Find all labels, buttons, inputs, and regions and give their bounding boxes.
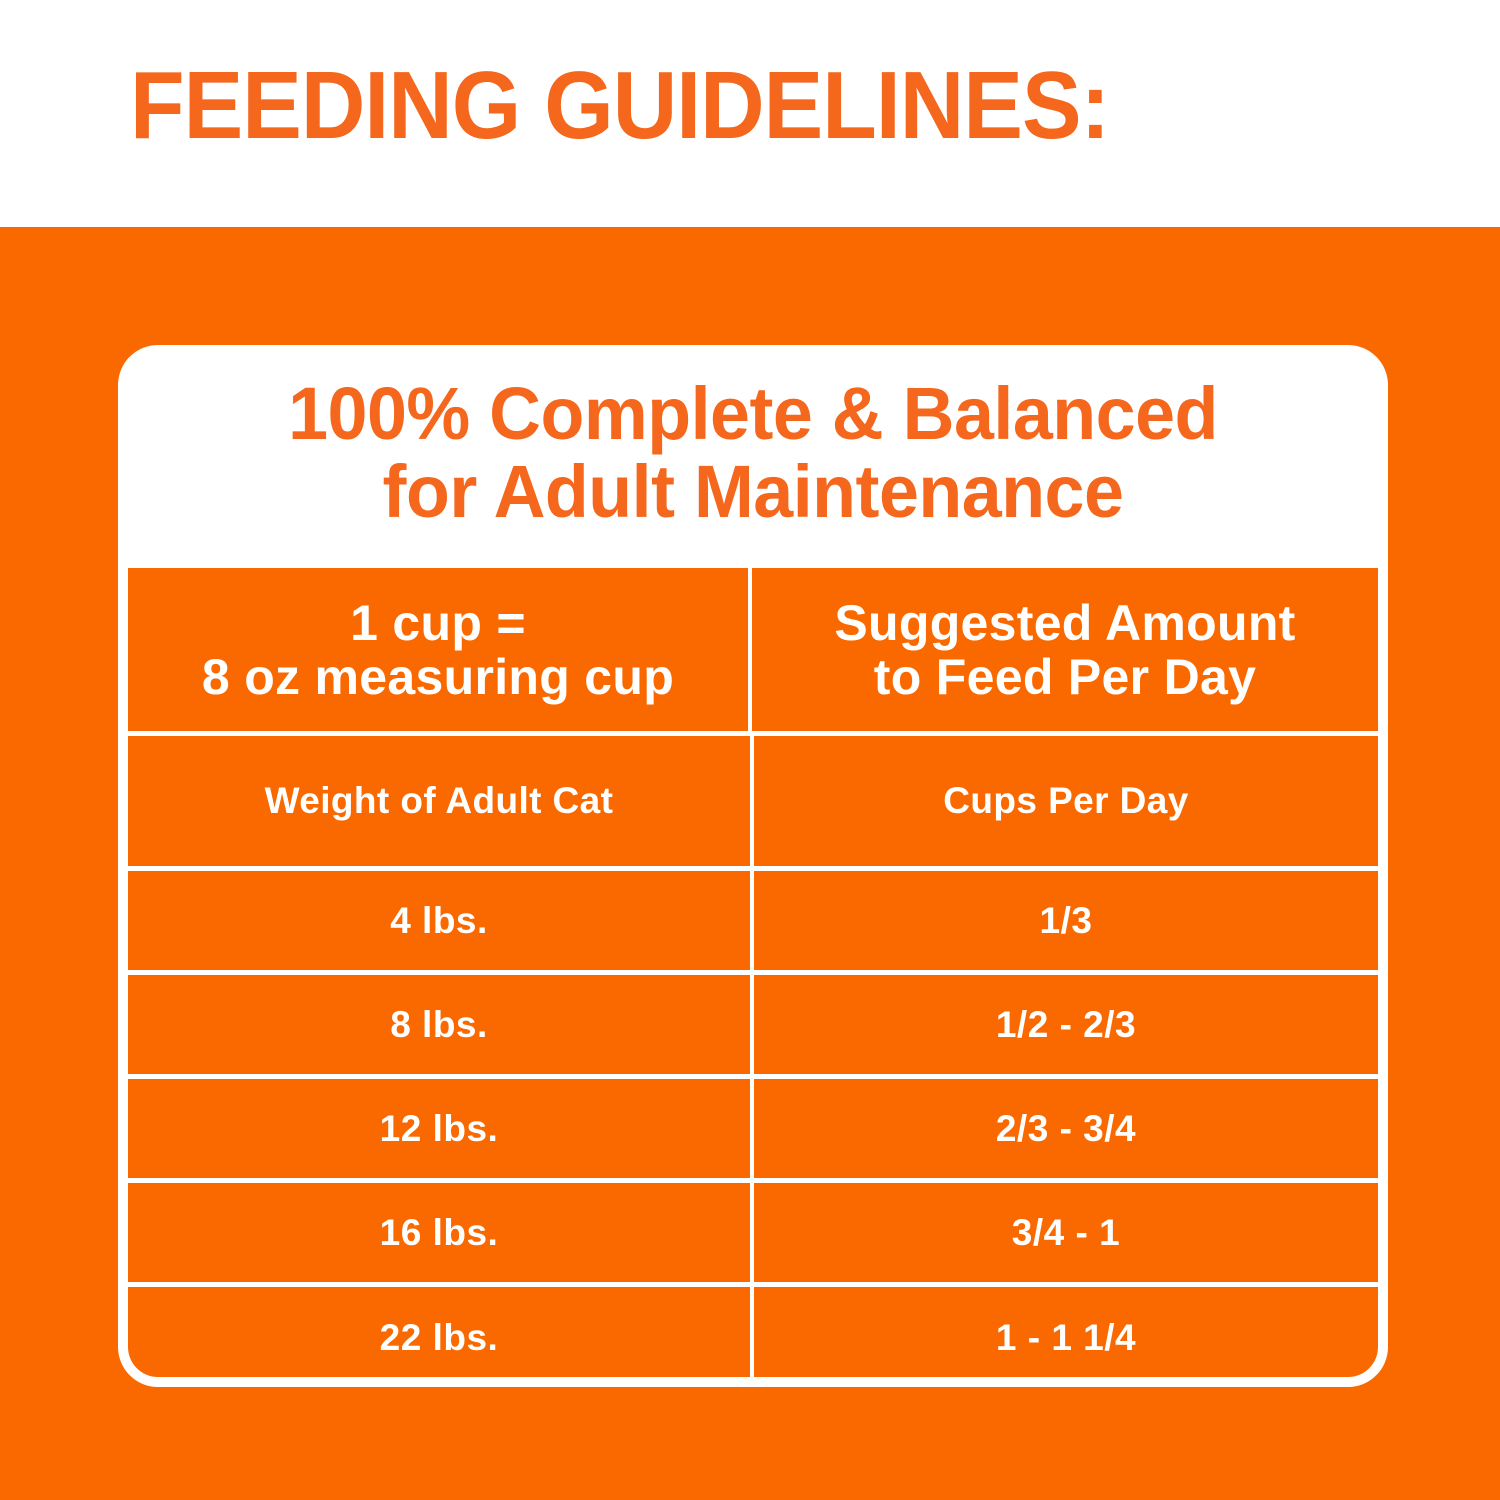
- table-row: 4 lbs. 1/3: [128, 871, 1378, 970]
- table-row: 12 lbs. 2/3 - 3/4: [128, 1079, 1378, 1178]
- column-header-weight: Weight of Adult Cat: [128, 736, 750, 866]
- cell-weight: 8 lbs.: [128, 975, 750, 1074]
- cell-weight: 16 lbs.: [128, 1183, 750, 1282]
- table-header-cell-suggested: Suggested Amount to Feed Per Day: [752, 568, 1378, 731]
- table-subheader-row: Weight of Adult Cat Cups Per Day: [128, 736, 1378, 866]
- cell-cups: 1/3: [754, 871, 1378, 970]
- card-heading-line-1: 100% Complete & Balanced: [137, 375, 1369, 453]
- feeding-guidelines-page: FEEDING GUIDELINES: 100% Complete & Bala…: [0, 0, 1500, 1500]
- cell-cups: 3/4 - 1: [754, 1183, 1378, 1282]
- table-row: 16 lbs. 3/4 - 1: [128, 1183, 1378, 1282]
- table-header-row: 1 cup = 8 oz measuring cup Suggested Amo…: [128, 568, 1378, 731]
- measure-line-2: 8 oz measuring cup: [202, 650, 674, 704]
- table-header-cell-measure: 1 cup = 8 oz measuring cup: [128, 568, 748, 731]
- feeding-card: 100% Complete & Balanced for Adult Maint…: [118, 345, 1388, 1387]
- title-band: FEEDING GUIDELINES:: [0, 0, 1500, 227]
- suggested-line-2: to Feed Per Day: [834, 650, 1295, 704]
- measure-line-1: 1 cup =: [202, 596, 674, 650]
- cell-cups: 1/2 - 2/3: [754, 975, 1378, 1074]
- cell-weight: 12 lbs.: [128, 1079, 750, 1178]
- table-row: 8 lbs. 1/2 - 2/3: [128, 975, 1378, 1074]
- suggested-line-1: Suggested Amount: [834, 596, 1295, 650]
- cell-weight: 22 lbs.: [128, 1287, 750, 1377]
- card-heading-line-2: for Adult Maintenance: [137, 453, 1369, 531]
- feeding-table: 1 cup = 8 oz measuring cup Suggested Amo…: [128, 568, 1378, 1377]
- cell-cups: 2/3 - 3/4: [754, 1079, 1378, 1178]
- cell-weight: 4 lbs.: [128, 871, 750, 970]
- table-row: 22 lbs. 1 - 1 1/4: [128, 1287, 1378, 1377]
- card-heading: 100% Complete & Balanced for Adult Maint…: [137, 375, 1369, 531]
- column-header-cups: Cups Per Day: [754, 736, 1378, 866]
- cell-cups: 1 - 1 1/4: [754, 1287, 1378, 1377]
- page-title: FEEDING GUIDELINES:: [130, 56, 1109, 156]
